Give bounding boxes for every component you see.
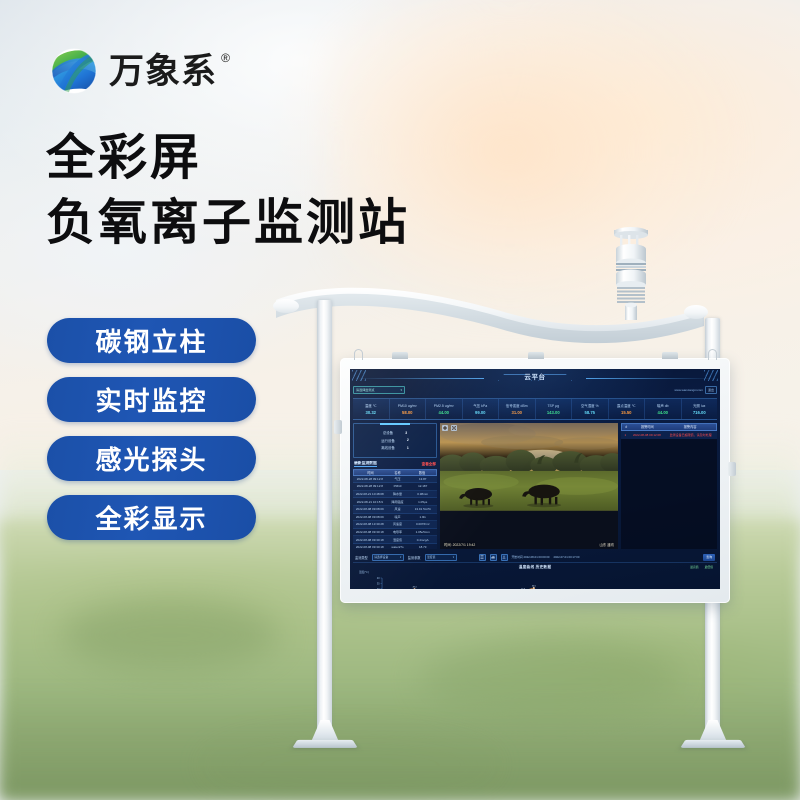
latest-data-table: 最新监测数据 查看全部 时间 名称 数值 2022-08-28 09:12:8气… xyxy=(353,461,437,549)
svg-text:35: 35 xyxy=(377,582,380,585)
table-cell: 0.4mcgA xyxy=(408,538,437,542)
svg-text:30: 30 xyxy=(377,588,380,589)
status-row: 离线设备 1 xyxy=(360,445,430,450)
svg-text:29.4: 29.4 xyxy=(413,587,418,589)
site-select-dropdown[interactable]: 请选择监测点 ▾ xyxy=(353,386,405,394)
metric-label: 噪声 db xyxy=(657,403,669,408)
metric-value: 58.75 xyxy=(585,410,595,415)
headline-line-1: 全彩屏 xyxy=(46,126,410,191)
screen-mount-tab xyxy=(662,352,678,359)
table-row[interactable]: 2022-08-21 10:15:9降雨强度1.05μs xyxy=(353,498,437,506)
brand-name: 万象系 ® xyxy=(109,54,217,89)
headline-line-2: 负氧离子监测站 xyxy=(46,191,410,256)
video-watermark: 山东 潍坊 xyxy=(599,542,614,547)
site-url-text: www.wanxiangxi.com xyxy=(674,388,703,392)
metric-label: 光照 lux xyxy=(693,403,705,408)
metric-value: 44.00 xyxy=(658,410,668,415)
svg-text:27.8: 27.8 xyxy=(521,588,526,589)
chart-svg: 4035302520151017.508-0121.208-0224.808-0… xyxy=(357,571,713,589)
metric-label: 气压 kPa xyxy=(473,403,487,408)
post-base-plate-right xyxy=(683,724,743,750)
device-select-value: 请选择设备 xyxy=(374,555,388,559)
table-cell: 风速度 xyxy=(387,522,409,526)
alarm-index: 1 xyxy=(621,433,630,437)
header-right-group: www.wanxiangxi.com 退出 xyxy=(674,386,717,394)
screen-mount-hook xyxy=(354,349,363,360)
screen-mount-hook xyxy=(708,349,717,360)
metric-pm10: PM10 ug/m³ 58.00 xyxy=(390,399,427,419)
table-cell: 2022-08-08 09:30:18 xyxy=(353,545,387,549)
table-cell: PM10 xyxy=(387,484,409,488)
table-cell: 0.0076/m² xyxy=(408,522,437,526)
metric-label: TSP μg xyxy=(547,404,559,408)
legend-item: 最低值 xyxy=(705,565,713,569)
table-cell: 2022-08-28 09:12:8 xyxy=(353,477,387,481)
metric-value: 15.50 xyxy=(621,410,631,415)
device-select-dropdown[interactable]: 请选择设备 ▾ xyxy=(372,554,404,561)
post-base-plate-left xyxy=(295,724,355,750)
metric-value: 44.00 xyxy=(439,410,449,415)
support-post-left xyxy=(317,300,332,730)
metric-noise: 噪声 db 44.00 xyxy=(645,399,682,419)
table-column-header: 名称 xyxy=(387,470,408,475)
table-cell: 2022-08-08 09:30:18 xyxy=(353,538,387,542)
date-range-to[interactable]: 2022-07-01 00:17:00 xyxy=(553,555,579,559)
base-gusset xyxy=(699,720,727,742)
logout-button[interactable]: 退出 xyxy=(705,386,717,394)
registered-trademark-icon: ® xyxy=(221,51,230,65)
metric-label: PM2.5 ug/m³ xyxy=(434,404,454,408)
table-cell: water27s xyxy=(387,545,409,549)
video-toolbar xyxy=(442,425,457,431)
svg-text:30.6: 30.6 xyxy=(532,585,537,587)
brand-name-text: 万象系 xyxy=(109,52,217,91)
table-cell: 2022-08-08 13:30:28 xyxy=(353,522,387,526)
table-cell: 1.9lx xyxy=(408,515,437,519)
dashboard-subheader: 请选择监测点 ▾ www.wanxiangxi.com 退出 xyxy=(350,386,720,397)
table-cell: 2022-08-08 09:08:09 xyxy=(353,515,387,519)
list-icon[interactable] xyxy=(479,554,486,561)
metric-value: 58.00 xyxy=(402,410,412,415)
metric-signal-strength: 信号强度 dBm 31.00 xyxy=(499,399,536,419)
table-cell: 降雨强度 xyxy=(387,500,409,504)
snapshot-icon[interactable] xyxy=(451,425,457,431)
table-header-row: 时间 名称 数值 xyxy=(353,469,437,476)
table-cell: 2022-08-08 09:08:09 xyxy=(353,507,387,511)
metric-value: 99.00 xyxy=(475,410,485,415)
chevron-down-icon: ▾ xyxy=(400,556,401,559)
feature-pill-full-color-display: 全彩显示 xyxy=(47,495,256,540)
table-cell: 1.05e5mm xyxy=(408,530,437,534)
toolbar-label-device: 监测类型 xyxy=(355,555,368,560)
query-button[interactable]: 查询 xyxy=(703,554,715,561)
metric-tsp: TSP μg 143.00 xyxy=(536,399,573,419)
cloud-platform-dashboard: 云平台 请选择监测点 ▾ www.wanxiangxi.com 退出 温度 ℃ … xyxy=(350,369,720,589)
camera-feed-panel: 时间: 2022/7/1 19:42 山东 潍坊 xyxy=(440,423,618,549)
status-value: 1 xyxy=(404,446,409,450)
feature-pill-list: 碳钢立柱 实时监控 感光探头 全彩显示 xyxy=(47,318,256,554)
metric-pm25: PM2.5 ug/m³ 44.00 xyxy=(426,399,463,419)
parameter-select-dropdown[interactable]: 温度值 ▾ xyxy=(425,554,457,561)
table-title: 最新监测数据 xyxy=(354,461,377,468)
table-row[interactable]: 2022-08-08 09:30:18湿度值0.4mcgA xyxy=(353,536,437,544)
alarm-message: 监测设备已超限值，请及时处理 xyxy=(664,433,717,437)
video-timestamp: 时间: 2022/7/1 19:42 xyxy=(444,542,475,547)
bar-icon[interactable] xyxy=(490,554,497,561)
left-sidebar: 总设备 3 运行设备 2 离线设备 1 最新监测数据 查看全部 xyxy=(353,423,437,549)
legend-item: 最高值 xyxy=(690,565,698,569)
status-label: 离线设备 xyxy=(381,445,395,450)
table-row[interactable]: 2022-08-08 09:08:09风速13.91 5m/5t xyxy=(353,506,437,514)
table-cell: 13.91 5m/5t xyxy=(408,507,437,511)
alarm-row[interactable]: 1 2022-08-08 09:12:08 监测设备已超限值，请及时处理 xyxy=(621,431,717,439)
alarm-panel: # 报警时间 报警内容 1 2022-08-08 09:12:08 监测设备已超… xyxy=(621,423,717,549)
chart-legend: 最高值 最低值 xyxy=(690,565,713,569)
date-range-from[interactable]: 开始时间 2022-08-01 00:00:00 xyxy=(512,555,550,559)
screen-mount-tab xyxy=(528,352,544,359)
table-cell: 湿度值 xyxy=(387,538,409,542)
table-cell: 0.38mm xyxy=(408,492,437,496)
video-player[interactable]: 时间: 2022/7/1 19:42 山东 潍坊 xyxy=(440,423,618,549)
site-select-value: 请选择监测点 xyxy=(356,388,375,392)
dashboard-title: 云平台 xyxy=(350,371,720,381)
status-row: 总设备 3 xyxy=(360,430,430,435)
metric-dew-point: 露点温度 ℃ 15.50 xyxy=(609,399,646,419)
feature-pill-label: 全彩显示 xyxy=(95,499,207,536)
table-row[interactable]: 2022-08-08 09:08:09噪声1.9lx xyxy=(353,514,437,522)
chart-plot-area: 温度(℃) 4035302520151017.508-0121.208-0224… xyxy=(357,571,713,589)
alarm-header-row: # 报警时间 报警内容 xyxy=(621,423,717,431)
table-cell: 2022-08-08 09:30:18 xyxy=(353,530,387,534)
chart-y-axis-label: 温度(℃) xyxy=(359,570,369,574)
table-column-header: 时间 xyxy=(354,470,387,475)
line-chart: 温度曲线 历史数据 最高值 最低值 温度(℃) 4035302520151017… xyxy=(353,563,717,589)
device-status-box: 总设备 3 运行设备 2 离线设备 1 xyxy=(353,423,437,458)
metric-value: 716.00 xyxy=(693,410,706,415)
feature-pill-carbon-steel-post: 碳钢立柱 xyxy=(47,318,256,363)
base-plate xyxy=(680,740,746,748)
table-cell: 18.73 xyxy=(408,545,437,549)
fullscreen-icon[interactable] xyxy=(442,425,448,431)
table-cell: 2022-08-21 10:48:08 xyxy=(353,492,387,496)
table-row[interactable]: 2022-08-21 10:48:08降水量0.38mm xyxy=(353,491,437,499)
table-cell: 12.187 xyxy=(408,484,437,488)
feature-pill-realtime-monitoring: 实时监控 xyxy=(47,377,256,422)
chart-title: 温度曲线 历史数据 xyxy=(357,565,713,570)
table-cell: 气压 xyxy=(387,477,409,481)
metric-humidity: 空气湿度 % 58.75 xyxy=(572,399,609,419)
sensor-metrics-bar: 温度 ℃ 30.32 PM10 ug/m³ 58.00 PM2.5 ug/m³ … xyxy=(353,398,717,420)
table-cell: 2022-08-21 10:15:9 xyxy=(353,500,387,504)
feature-pill-label: 碳钢立柱 xyxy=(95,322,207,359)
toolbar-label-parameter: 监测参数 xyxy=(408,555,421,560)
status-value: 2 xyxy=(404,438,409,442)
metric-label: 温度 ℃ xyxy=(365,403,377,408)
alarm-column-header: 报警内容 xyxy=(664,424,716,429)
chevron-down-icon: ▾ xyxy=(453,556,454,559)
view-all-link[interactable]: 查看全部 xyxy=(422,462,436,467)
metric-illuminance: 光照 lux 716.00 xyxy=(682,399,718,419)
alarm-column-header: # xyxy=(622,425,630,429)
table-cell: 噪声 xyxy=(387,515,409,519)
screen-side-hinge xyxy=(728,462,736,476)
alarm-empty-area xyxy=(621,439,717,550)
dashboard-header: 云平台 xyxy=(350,369,720,386)
pasture-sunset-scene xyxy=(440,423,618,511)
status-value: 3 xyxy=(402,431,407,435)
status-label: 运行设备 xyxy=(381,438,395,443)
brand-logo: 万象系 ® xyxy=(48,45,217,97)
globe-swoosh-logo-icon xyxy=(48,45,100,97)
metric-label: PM10 ug/m³ xyxy=(398,404,417,408)
table-row[interactable]: 2022-08-08 13:30:28风速度0.0076/m² xyxy=(353,521,437,529)
metric-value: 31.00 xyxy=(512,410,522,415)
table-row[interactable]: 2022-08-28 09:12:8PM1012.187 xyxy=(353,483,437,491)
dashboard-body: 总设备 3 运行设备 2 离线设备 1 最新监测数据 查看全部 xyxy=(353,423,717,549)
ultrasonic-weather-sensor-icon xyxy=(600,222,662,320)
table-cell: 降水量 xyxy=(387,492,409,496)
metric-pressure: 气压 kPa 99.00 xyxy=(463,399,500,419)
metric-value: 30.32 xyxy=(366,410,376,415)
table-body: 2022-08-28 09:12:8气压13.872022-08-28 09:1… xyxy=(353,476,437,549)
table-row[interactable]: 2022-08-08 09:30:18water27s18.73 xyxy=(353,544,437,549)
table-cell: 1.05μs xyxy=(408,500,437,504)
base-plate xyxy=(292,740,358,748)
table-cell: 风速 xyxy=(387,507,409,511)
table-row[interactable]: 2022-08-28 09:12:8气压13.87 xyxy=(353,476,437,484)
metric-label: 空气湿度 % xyxy=(581,403,599,408)
feature-pill-label: 实时监控 xyxy=(95,381,207,418)
feature-pill-label: 感光探头 xyxy=(95,440,207,477)
metric-temperature: 温度 ℃ 30.32 xyxy=(353,399,390,419)
screen-side-hinge xyxy=(334,420,342,434)
alarm-time: 2022-08-08 09:12:08 xyxy=(630,433,665,437)
table-title-bar: 最新监测数据 查看全部 xyxy=(353,461,437,469)
display-screen-housing: 云平台 请选择监测点 ▾ www.wanxiangxi.com 退出 温度 ℃ … xyxy=(340,358,730,603)
table-cell: 电导率 xyxy=(387,530,409,534)
feature-pill-light-sensor-probe: 感光探头 xyxy=(47,436,256,481)
parameter-select-value: 温度值 xyxy=(427,555,435,559)
base-gusset xyxy=(311,720,339,742)
table-row[interactable]: 2022-08-08 09:30:18电导率1.05e5mm xyxy=(353,529,437,537)
table-cell: 13.87 xyxy=(408,477,437,481)
metric-value: 143.00 xyxy=(547,410,560,415)
status-row: 运行设备 2 xyxy=(360,438,430,443)
svg-text:40: 40 xyxy=(377,577,380,580)
metric-label: 信号强度 dBm xyxy=(506,403,528,408)
table-column-header: 数值 xyxy=(408,470,436,475)
status-label: 总设备 xyxy=(383,430,393,435)
table-cell: 2022-08-28 09:12:8 xyxy=(353,484,387,488)
metric-label: 露点温度 ℃ xyxy=(617,403,636,408)
chart-toolbar: 监测类型 请选择设备 ▾ 监测参数 温度值 ▾ xyxy=(353,552,717,563)
chevron-down-icon: ▾ xyxy=(400,388,402,392)
headline-block: 全彩屏 负氧离子监测站 xyxy=(46,126,410,256)
export-icon[interactable] xyxy=(501,554,508,561)
screen-mount-tab xyxy=(392,352,408,359)
alarm-column-header: 报警时间 xyxy=(630,424,664,429)
history-chart-section: 监测类型 请选择设备 ▾ 监测参数 温度值 ▾ xyxy=(353,552,717,589)
